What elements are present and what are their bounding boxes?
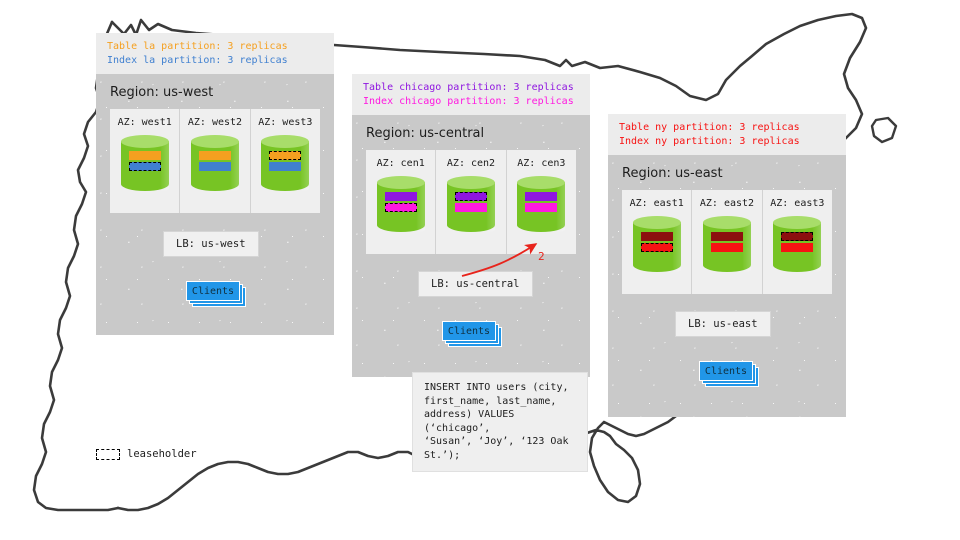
table-ny-replica (641, 232, 673, 241)
index-chicago-replica (455, 203, 487, 212)
cylinder-top (517, 176, 565, 189)
index-chicago-replica (525, 203, 557, 212)
region-header-us-central: Table chicago partition: 3 replicasIndex… (352, 74, 590, 115)
cylinder-top (377, 176, 425, 189)
database-cylinder-icon (447, 176, 495, 238)
az-label: AZ: west2 (180, 117, 249, 128)
clients-stack-us-east[interactable]: Clients (699, 361, 757, 383)
az-strip-us-west: AZ: west1AZ: west2AZ: west3 (110, 109, 320, 213)
clients-label: Clients (442, 321, 496, 341)
clients-stack-us-central[interactable]: Clients (442, 321, 500, 343)
partition-info-line: Index ny partition: 3 replicas (619, 135, 836, 149)
table-chicago-replica (385, 192, 417, 201)
clients-stack-us-west[interactable]: Clients (186, 281, 244, 303)
az-label: AZ: west1 (110, 117, 179, 128)
az-cell-az-west2[interactable]: AZ: west2 (179, 109, 249, 213)
az-label: AZ: cen1 (366, 158, 435, 169)
load-balancer-us-east[interactable]: LB: us-east (675, 311, 771, 337)
diagram-canvas: Table la partition: 3 replicasIndex la p… (0, 0, 960, 540)
cylinder-top (261, 135, 309, 148)
clients-label: Clients (699, 361, 753, 381)
az-cell-az-cen3[interactable]: AZ: cen3 (506, 150, 576, 254)
region-title-us-west: Region: us-west (96, 74, 334, 109)
replica-bars (703, 232, 751, 254)
replica-bars (773, 232, 821, 254)
az-cell-az-cen2[interactable]: AZ: cen2 (435, 150, 505, 254)
database-cylinder-icon (633, 216, 681, 278)
az-cell-az-west3[interactable]: AZ: west3 (250, 109, 320, 213)
partition-info-line: Table ny partition: 3 replicas (619, 121, 836, 135)
az-strip-us-central: AZ: cen1AZ: cen2AZ: cen3 (366, 150, 576, 254)
index-ny-replica-leaseholder (641, 243, 673, 252)
replica-bars (517, 192, 565, 214)
database-cylinder-icon (703, 216, 751, 278)
cylinder-top (773, 216, 821, 229)
index-la-replica-leaseholder (129, 162, 161, 171)
replica-bars (377, 192, 425, 214)
index-ny-replica (781, 243, 813, 252)
az-label: AZ: cen3 (507, 158, 576, 169)
arrow-step-number: 2 (538, 250, 545, 263)
table-ny-replica (711, 232, 743, 241)
index-la-replica (269, 162, 301, 171)
leaseholder-dashed-icon (96, 449, 120, 460)
az-cell-az-east1[interactable]: AZ: east1 (622, 190, 691, 294)
region-title-us-east: Region: us-east (608, 155, 846, 190)
az-label: AZ: east1 (622, 198, 691, 209)
cylinder-top (121, 135, 169, 148)
az-label: AZ: cen2 (436, 158, 505, 169)
sql-statement-note: INSERT INTO users (city, first_name, las… (412, 372, 588, 472)
region-title-us-central: Region: us-central (352, 115, 590, 150)
load-balancer-us-west[interactable]: LB: us-west (163, 231, 259, 257)
az-cell-az-east3[interactable]: AZ: east3 (762, 190, 832, 294)
replica-bars (121, 151, 169, 173)
replica-bars (633, 232, 681, 254)
az-label: AZ: east2 (692, 198, 761, 209)
az-cell-az-cen1[interactable]: AZ: cen1 (366, 150, 435, 254)
cylinder-top (703, 216, 751, 229)
legend-label: leaseholder (127, 448, 197, 460)
cylinder-top (633, 216, 681, 229)
replica-bars (261, 151, 309, 173)
database-cylinder-icon (261, 135, 309, 197)
az-cell-az-west1[interactable]: AZ: west1 (110, 109, 179, 213)
table-ny-replica-leaseholder (781, 232, 813, 241)
az-strip-us-east: AZ: east1AZ: east2AZ: east3 (622, 190, 832, 294)
clients-label: Clients (186, 281, 240, 301)
table-chicago-replica (525, 192, 557, 201)
table-la-replica-leaseholder (269, 151, 301, 160)
cylinder-top (191, 135, 239, 148)
table-la-replica (199, 151, 231, 160)
table-la-replica (129, 151, 161, 160)
az-label: AZ: east3 (763, 198, 832, 209)
database-cylinder-icon (517, 176, 565, 238)
database-cylinder-icon (773, 216, 821, 278)
legend: leaseholder (96, 448, 197, 460)
region-header-us-east: Table ny partition: 3 replicasIndex ny p… (608, 114, 846, 155)
cylinder-top (447, 176, 495, 189)
partition-info-line: Table chicago partition: 3 replicas (363, 81, 580, 95)
table-chicago-replica-leaseholder (455, 192, 487, 201)
database-cylinder-icon (377, 176, 425, 238)
replica-bars (447, 192, 495, 214)
partition-info-line: Index la partition: 3 replicas (107, 54, 324, 68)
database-cylinder-icon (121, 135, 169, 197)
az-label: AZ: west3 (251, 117, 320, 128)
partition-info-line: Index chicago partition: 3 replicas (363, 95, 580, 109)
load-balancer-us-central[interactable]: LB: us-central (418, 271, 533, 297)
database-cylinder-icon (191, 135, 239, 197)
index-la-replica (199, 162, 231, 171)
index-chicago-replica-leaseholder (385, 203, 417, 212)
region-header-us-west: Table la partition: 3 replicasIndex la p… (96, 33, 334, 74)
index-ny-replica (711, 243, 743, 252)
partition-info-line: Table la partition: 3 replicas (107, 40, 324, 54)
replica-bars (191, 151, 239, 173)
az-cell-az-east2[interactable]: AZ: east2 (691, 190, 761, 294)
